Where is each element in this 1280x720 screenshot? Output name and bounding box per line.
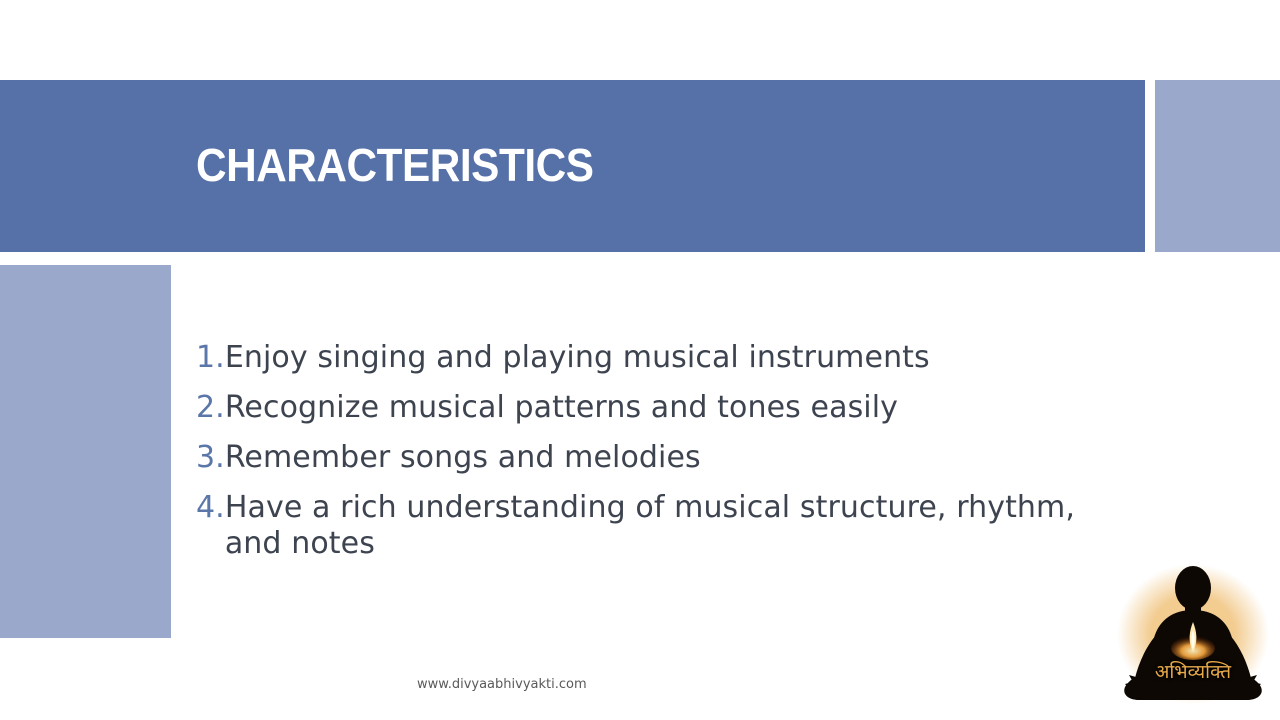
list-item-text: Enjoy singing and playing musical instru… bbox=[225, 340, 1126, 376]
list-item-number: 3. bbox=[196, 440, 225, 476]
accent-block-top-right bbox=[1155, 80, 1280, 252]
characteristics-list: 1. Enjoy singing and playing musical ins… bbox=[196, 340, 1126, 576]
footer-website-url: www.divyaabhivyakti.com bbox=[417, 676, 587, 694]
page-title: CHARACTERISTICS bbox=[196, 134, 593, 196]
list-item-number: 4. bbox=[196, 490, 225, 526]
list-item-text: Remember songs and melodies bbox=[225, 440, 1126, 476]
list-item: 3. Remember songs and melodies bbox=[196, 440, 1126, 476]
list-item: 2. Recognize musical patterns and tones … bbox=[196, 390, 1126, 426]
list-item: 1. Enjoy singing and playing musical ins… bbox=[196, 340, 1126, 376]
brand-logo: अभिव्यक्ति bbox=[1113, 560, 1273, 715]
accent-block-left bbox=[0, 265, 171, 638]
list-item-number: 2. bbox=[196, 390, 225, 426]
list-item: 4. Have a rich understanding of musical … bbox=[196, 490, 1126, 562]
list-item-text: Have a rich understanding of musical str… bbox=[225, 490, 1126, 562]
list-item-text: Recognize musical patterns and tones eas… bbox=[225, 390, 1126, 426]
list-item-number: 1. bbox=[196, 340, 225, 376]
slide-canvas: CHARACTERISTICS 1. Enjoy singing and pla… bbox=[0, 0, 1280, 720]
